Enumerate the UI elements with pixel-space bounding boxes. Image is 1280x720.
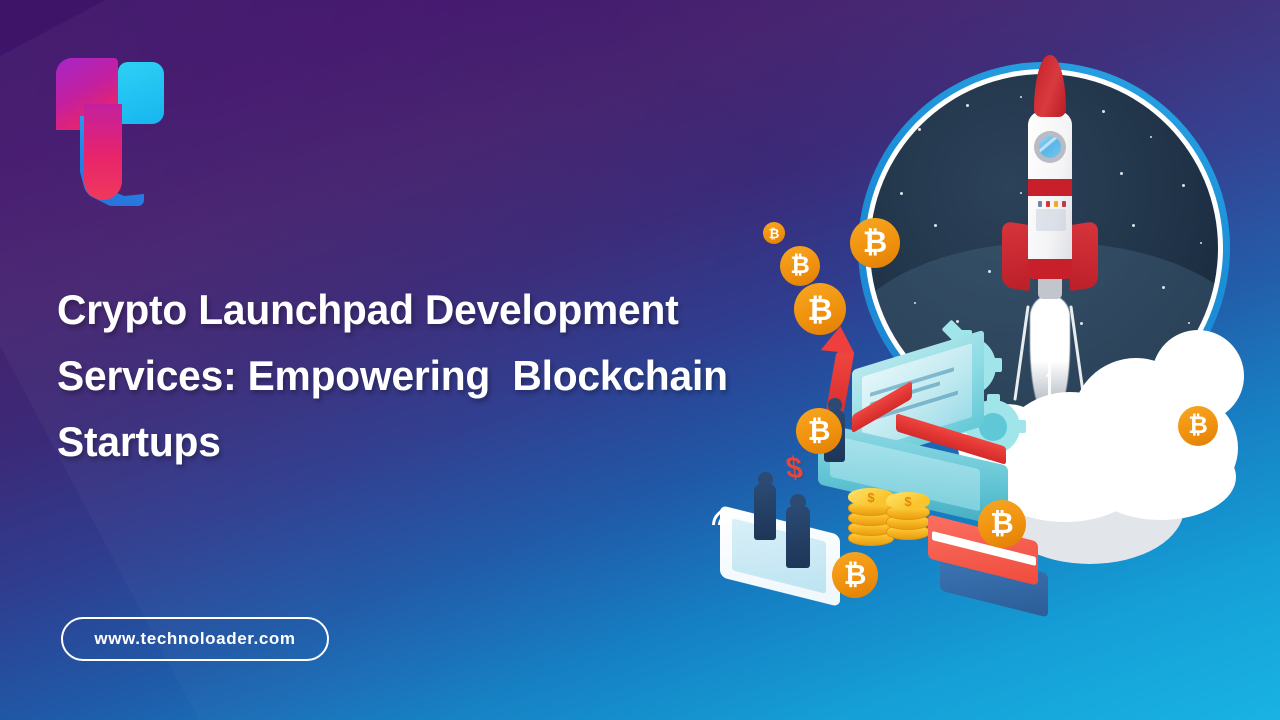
star-icon xyxy=(914,302,916,304)
star-icon xyxy=(918,128,921,131)
rocket-nose-cone xyxy=(1034,55,1066,117)
headline-line-3: Startups xyxy=(57,409,775,475)
rocket-fin-left xyxy=(1002,221,1030,291)
rocket-nozzle xyxy=(1038,277,1062,299)
star-icon xyxy=(1132,224,1135,227)
bitcoin-coin: ₿ xyxy=(978,500,1026,548)
star-icon xyxy=(1120,172,1123,175)
rocket-indicator-light xyxy=(1054,201,1058,207)
rocket-indicator-light xyxy=(1046,201,1050,207)
star-icon xyxy=(900,192,903,195)
rocket-band-lower xyxy=(1028,259,1072,279)
rocket-porthole-glass xyxy=(1039,136,1061,158)
smoke-cloud xyxy=(1086,434,1236,520)
bitcoin-coin: ₿ xyxy=(780,246,820,286)
promo-banner: Crypto Launchpad Development Services: E… xyxy=(0,0,1280,720)
technoloader-logo[interactable] xyxy=(56,58,174,203)
person-figure xyxy=(786,506,810,568)
star-icon xyxy=(966,104,969,107)
rocket-fin-right xyxy=(1070,221,1098,291)
star-icon xyxy=(1150,136,1152,138)
dollar-symbol: $ xyxy=(784,451,804,487)
bitcoin-coin: ₿ xyxy=(796,408,842,454)
bitcoin-coin: ₿ xyxy=(832,552,878,598)
star-icon xyxy=(1162,286,1165,289)
page-title: Crypto Launchpad Development Services: E… xyxy=(57,277,797,475)
star-icon xyxy=(1182,184,1185,187)
bitcoin-coin: ₿ xyxy=(1178,406,1218,446)
bitcoin-coin: ₿ xyxy=(850,218,900,268)
crypto-launchpad-illustration: $ $ $ ₿ ₿ ₿ ₿ ₿ ₿ ₿ ₿ xyxy=(700,0,1280,720)
bitcoin-coin: ₿ xyxy=(763,222,785,244)
person-figure xyxy=(754,484,776,540)
website-url-label: www.technoloader.com xyxy=(94,629,295,649)
star-icon xyxy=(988,270,991,273)
star-icon xyxy=(1200,242,1202,244)
headline-line-2: Services: Empowering Blockchain xyxy=(57,343,775,409)
star-icon xyxy=(956,320,959,323)
logo-pink-stem xyxy=(84,104,122,200)
star-icon xyxy=(934,224,937,227)
website-url-button[interactable]: www.technoloader.com xyxy=(61,617,329,661)
bitcoin-coin: ₿ xyxy=(794,283,846,335)
logo-cyan-block xyxy=(118,62,164,124)
rocket-panel xyxy=(1036,209,1066,231)
rocket-indicator-light xyxy=(1062,201,1066,207)
headline-line-1: Crypto Launchpad Development xyxy=(57,277,775,343)
star-icon xyxy=(1188,322,1190,324)
dollar-coin-top: $ xyxy=(886,492,930,510)
rocket-band-upper xyxy=(1028,179,1072,196)
rocket-icon xyxy=(996,55,1104,345)
rocket-indicator-light xyxy=(1038,201,1042,207)
